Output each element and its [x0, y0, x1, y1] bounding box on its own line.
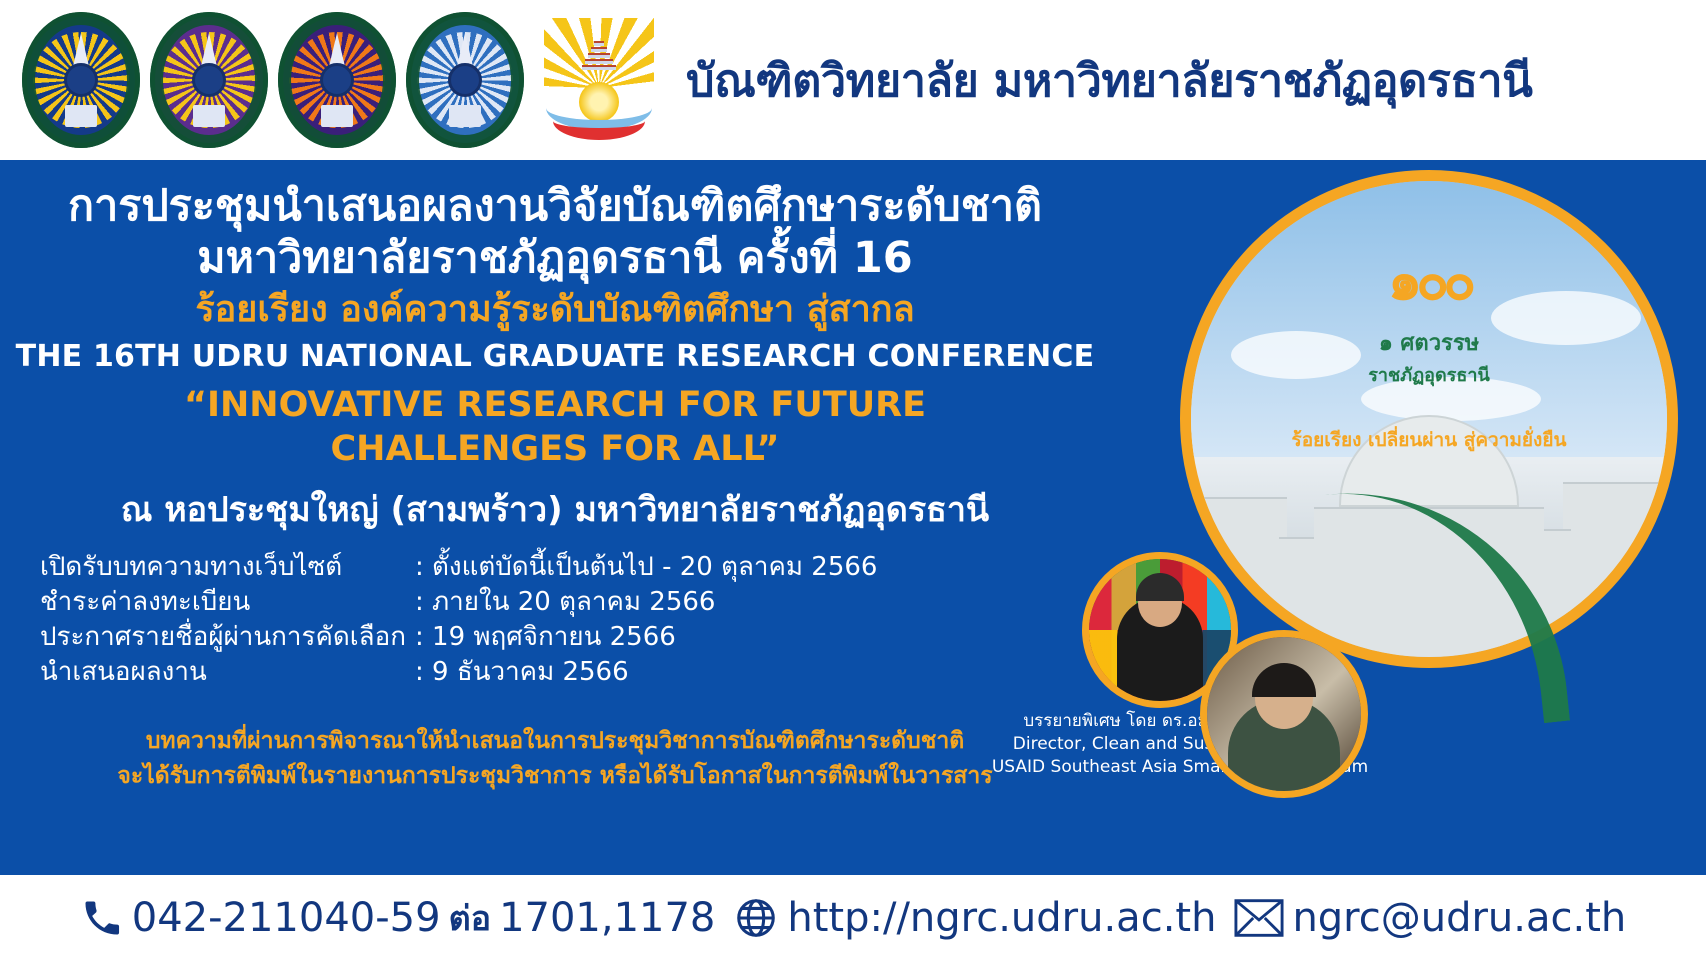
centennial-line1: ๑ ศตวรรษ: [1259, 325, 1599, 360]
conference-venue: ณ หอประชุมใหญ่ (สามพร้าว) มหาวิทยาลัยราช…: [0, 482, 1110, 536]
rajamangala-emblem: [534, 10, 664, 150]
poster-main-panel: การประชุมนำเสนอผลงานวิจัยบัณฑิตศึกษาระดั…: [0, 160, 1706, 875]
schedule-value: : 9 ธันวาคม 2566: [415, 655, 629, 690]
poster-header: บัณฑิตวิทยาลัย มหาวิทยาลัยราชภัฏอุดรธานี: [0, 0, 1706, 160]
schedule-value: : ตั้งแต่บัดนี้เป็นต้นไป - 20 ตุลาคม 256…: [415, 550, 877, 585]
surindra-rajabhat-university-seal: [150, 12, 268, 148]
schedule-value: : 19 พฤศจิกายน 2566: [415, 620, 676, 655]
globe-icon: [733, 895, 779, 941]
contact-ext-numbers[interactable]: 1701,1178: [499, 895, 715, 941]
schedule-list: เปิดรับบทความทางเว็บไซต์ : ตั้งแต่บัดนี้…: [40, 550, 1110, 690]
conference-title-line1: การประชุมนำเสนอผลงานวิจัยบัณฑิตศึกษาระดั…: [0, 184, 1110, 230]
schedule-value: : ภายใน 20 ตุลาคม 2566: [415, 585, 715, 620]
contact-phone[interactable]: 042-211040-59: [132, 895, 441, 941]
publication-note-line2: จะได้รับการตีพิมพ์ในรายงานการประชุมวิชาก…: [0, 759, 1110, 794]
contact-website-group[interactable]: http://ngrc.udru.ac.th: [733, 895, 1216, 941]
phone-icon: [80, 896, 124, 940]
schedule-label: ชำระค่าลงทะเบียน: [40, 585, 415, 620]
contact-ext-label: ต่อ: [449, 891, 492, 945]
buriram-rajabhat-university-seal: [278, 12, 396, 148]
contact-website[interactable]: http://ngrc.udru.ac.th: [787, 895, 1216, 941]
conference-title-english: THE 16TH UDRU NATIONAL GRADUATE RESEARCH…: [0, 339, 1110, 374]
conference-theme-thai: ร้อยเรียง องค์ความรู้ระดับบัณฑิตศึกษา สู…: [0, 291, 1110, 329]
schedule-row: เปิดรับบทความทางเว็บไซต์ : ตั้งแต่บัดนี้…: [40, 550, 1110, 585]
conference-quote-line2: CHALLENGES FOR ALL”: [0, 428, 1110, 470]
udon-thani-rajabhat-university-seal: [22, 12, 140, 148]
centennial-logo: ๑๐๐ ๑ ศตวรรษ ราชภัฏอุดรธานี ร้อยเรียง เป…: [1259, 237, 1599, 455]
centennial-tagline: ร้อยเรียง เปลี่ยนผ่าน สู่ความยั่งยืน: [1259, 425, 1599, 455]
contact-email[interactable]: ngrc@udru.ac.th: [1292, 895, 1626, 941]
speaker-2-photo: [1200, 630, 1368, 798]
poster-image-column: ๑๐๐ ๑ ศตวรรษ ราชภัฏอุดรธานี ร้อยเรียง เป…: [1080, 160, 1706, 875]
conference-quote-line1: “INNOVATIVE RESEARCH FOR FUTURE: [0, 384, 1110, 426]
envelope-icon: [1234, 897, 1284, 939]
publication-note: บทความที่ผ่านการพิจารณาให้นำเสนอในการประ…: [0, 724, 1110, 793]
contact-bar: 042-211040-59 ต่อ 1701,1178 http://ngrc.…: [0, 875, 1706, 960]
centennial-line2: ราชภัฏอุดรธานี: [1259, 360, 1599, 389]
contact-email-group[interactable]: ngrc@udru.ac.th: [1234, 895, 1626, 941]
schedule-label: ประกาศรายชื่อผู้ผ่านการคัดเลือก: [40, 620, 415, 655]
publication-note-line1: บทความที่ผ่านการพิจารณาให้นำเสนอในการประ…: [0, 724, 1110, 759]
schedule-row: ประกาศรายชื่อผู้ผ่านการคัดเลือก : 19 พฤศ…: [40, 620, 1110, 655]
page-title: บัณฑิตวิทยาลัย มหาวิทยาลัยราชภัฏอุดรธานี: [686, 44, 1532, 116]
schedule-row: นำเสนอผลงาน : 9 ธันวาคม 2566: [40, 655, 1110, 690]
university-logo-row: [0, 10, 664, 150]
poster-text-column: การประชุมนำเสนอผลงานวิจัยบัณฑิตศึกษาระดั…: [0, 160, 1110, 875]
schedule-row: ชำระค่าลงทะเบียน : ภายใน 20 ตุลาคม 2566: [40, 585, 1110, 620]
conference-title-line2: มหาวิทยาลัยราชภัฏอุดรธานี ครั้งที่ 16: [0, 236, 1110, 282]
centennial-number: ๑๐๐: [1259, 237, 1599, 323]
schedule-label: เปิดรับบทความทางเว็บไซต์: [40, 550, 415, 585]
sakon-nakhon-rajabhat-university-seal: [406, 12, 524, 148]
schedule-label: นำเสนอผลงาน: [40, 655, 415, 690]
contact-phone-group: 042-211040-59 ต่อ 1701,1178: [80, 891, 716, 945]
